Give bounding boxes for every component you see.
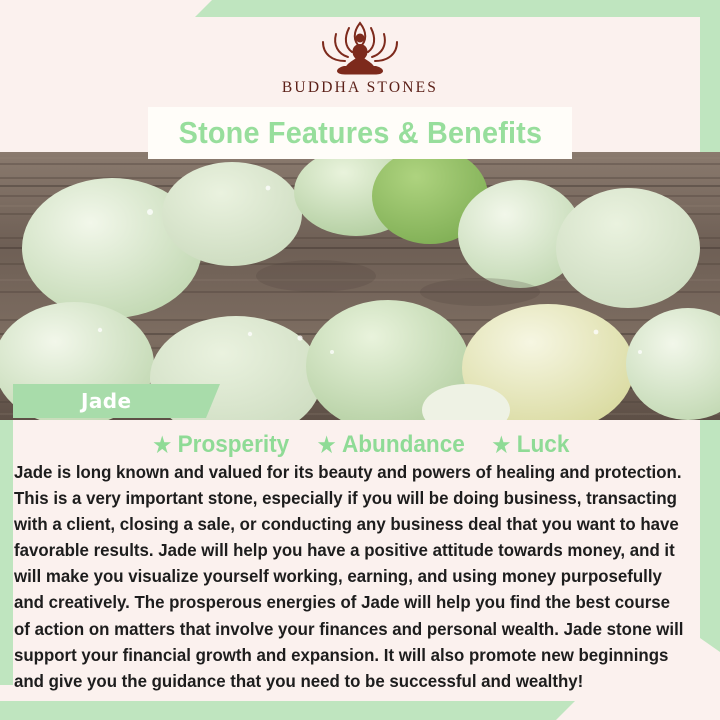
title-banner: Stone Features & Benefits <box>148 107 572 159</box>
star-icon: ★ <box>492 435 510 456</box>
brand-name: BUDDHA STONES <box>282 79 438 97</box>
brand-logo: BUDDHA STONES <box>0 18 720 110</box>
benefit-label: Luck <box>516 431 569 459</box>
lotus-meditation-figure-icon <box>301 18 419 76</box>
decor-bottom-band <box>0 701 575 720</box>
stone-name-label: Jade <box>13 384 220 418</box>
stone-name-text: Jade <box>81 389 131 413</box>
jade-stones-photo <box>0 152 720 420</box>
benefit-item-abundance: ★ Abundance <box>318 431 465 459</box>
star-icon: ★ <box>318 435 336 456</box>
description-text: Jade is long known and valued for its be… <box>14 459 689 694</box>
benefit-label: Prosperity <box>177 431 289 459</box>
infographic-page: BUDDHA STONES Stone Features & Benefits <box>0 0 720 720</box>
benefit-label: Abundance <box>342 431 465 459</box>
benefit-item-luck: ★ Luck <box>492 431 569 459</box>
benefit-item-prosperity: ★ Prosperity <box>153 431 289 459</box>
description-block: Jade is long known and valued for its be… <box>14 459 706 694</box>
benefits-row: ★ Prosperity ★ Abundance ★ Luck <box>0 430 720 460</box>
page-title: Stone Features & Benefits <box>178 115 542 151</box>
photo-graphic <box>0 152 720 420</box>
star-icon: ★ <box>153 435 171 456</box>
decor-top-right-band <box>195 0 720 17</box>
